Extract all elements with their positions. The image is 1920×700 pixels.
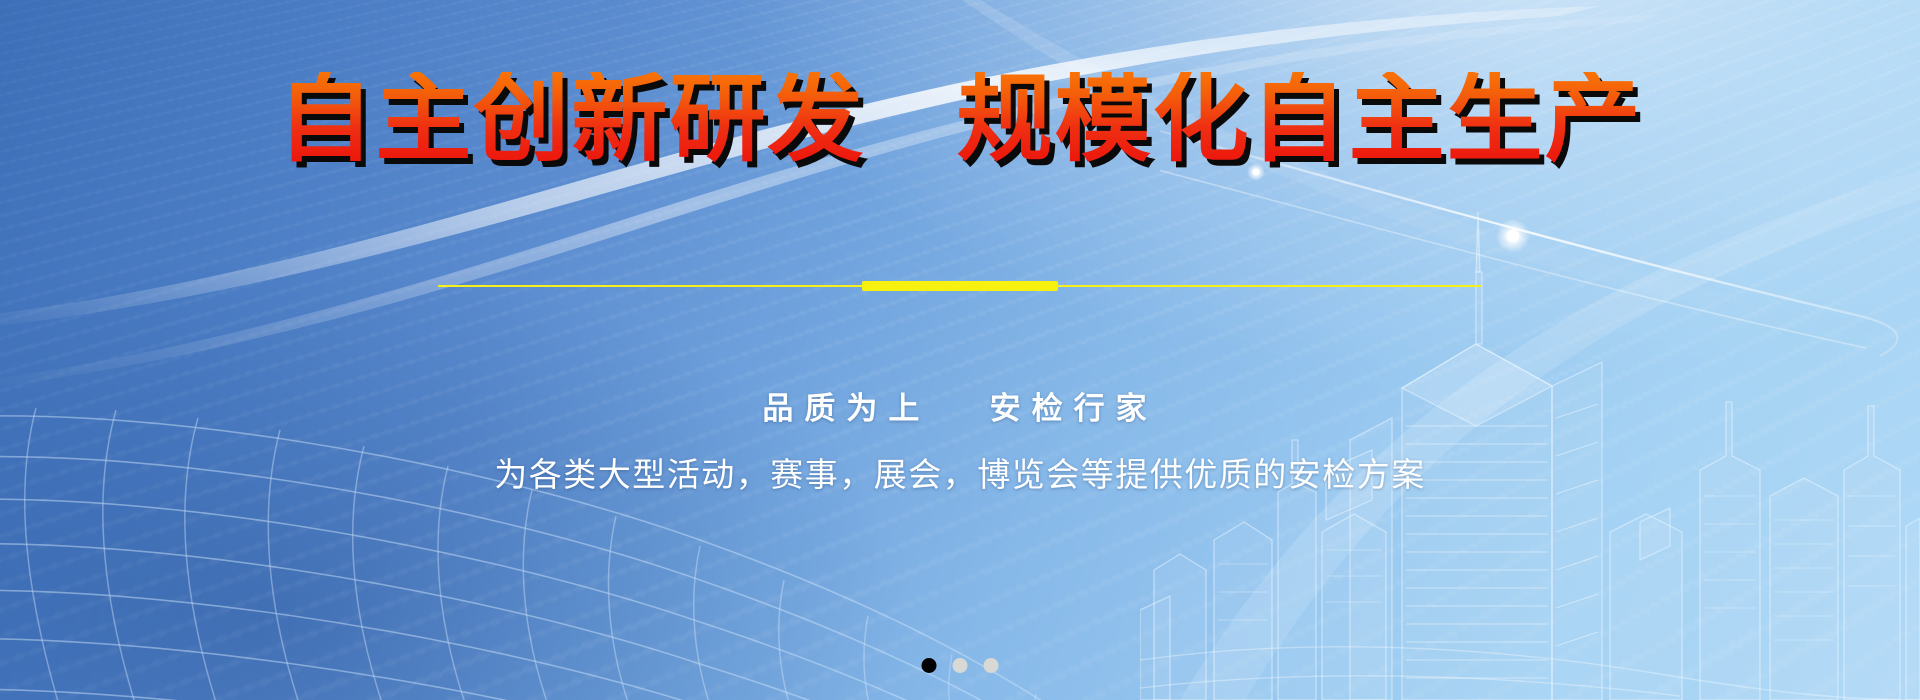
banner-content: 自主创新研发 规模化自主生产 品质为上 安检行家 为各类大型活动，赛事，展会，博…	[0, 0, 1920, 700]
carousel-dots[interactable]	[922, 658, 999, 673]
carousel-dot-2[interactable]	[953, 658, 968, 673]
hero-banner: 自主创新研发 规模化自主生产 品质为上 安检行家 为各类大型活动，赛事，展会，博…	[0, 0, 1920, 700]
headline-part-left: 自主创新研发	[277, 66, 865, 173]
headline-part-right: 规模化自主生产	[957, 66, 1643, 173]
subtitle-primary-b: 安检行家	[990, 391, 1158, 426]
title-divider	[438, 278, 1482, 294]
subtitle-primary-a: 品质为上	[762, 391, 930, 426]
page-title: 自主创新研发 规模化自主生产	[0, 72, 1920, 168]
divider-center-segment	[862, 281, 1058, 291]
carousel-dot-1[interactable]	[922, 658, 937, 673]
carousel-dot-3[interactable]	[984, 658, 999, 673]
subtitle-primary: 品质为上 安检行家	[0, 383, 1920, 428]
subtitle-secondary: 为各类大型活动，赛事，展会，博览会等提供优质的安检方案	[0, 448, 1920, 496]
